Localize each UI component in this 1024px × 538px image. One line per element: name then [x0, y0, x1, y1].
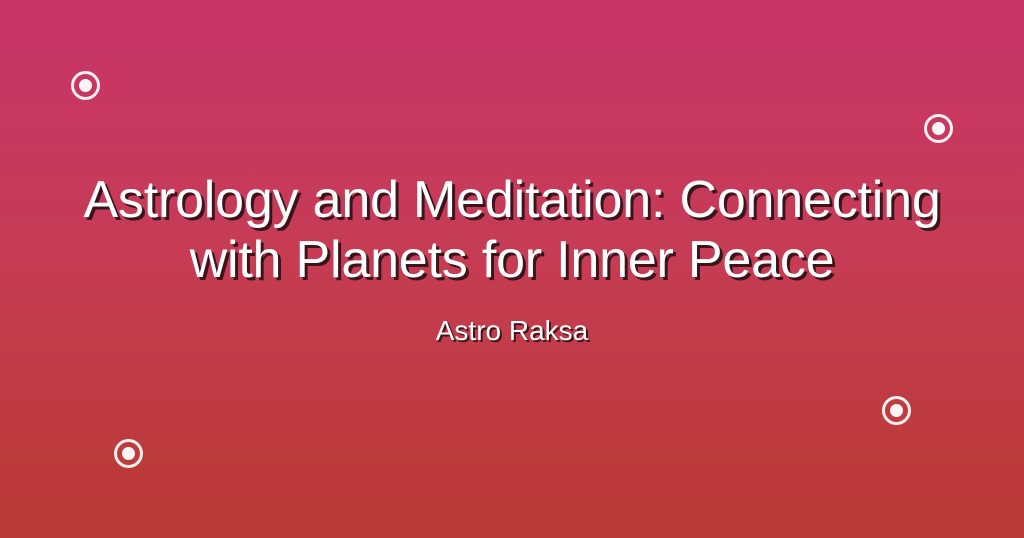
- slide-subtitle: Astro Raksa: [436, 314, 589, 348]
- slide-title: Astrology and Meditation: Connecting wit…: [0, 170, 1024, 290]
- presentation-slide: Astrology and Meditation: Connecting wit…: [0, 0, 1024, 538]
- slide-content: Astrology and Meditation: Connecting wit…: [0, 0, 1024, 538]
